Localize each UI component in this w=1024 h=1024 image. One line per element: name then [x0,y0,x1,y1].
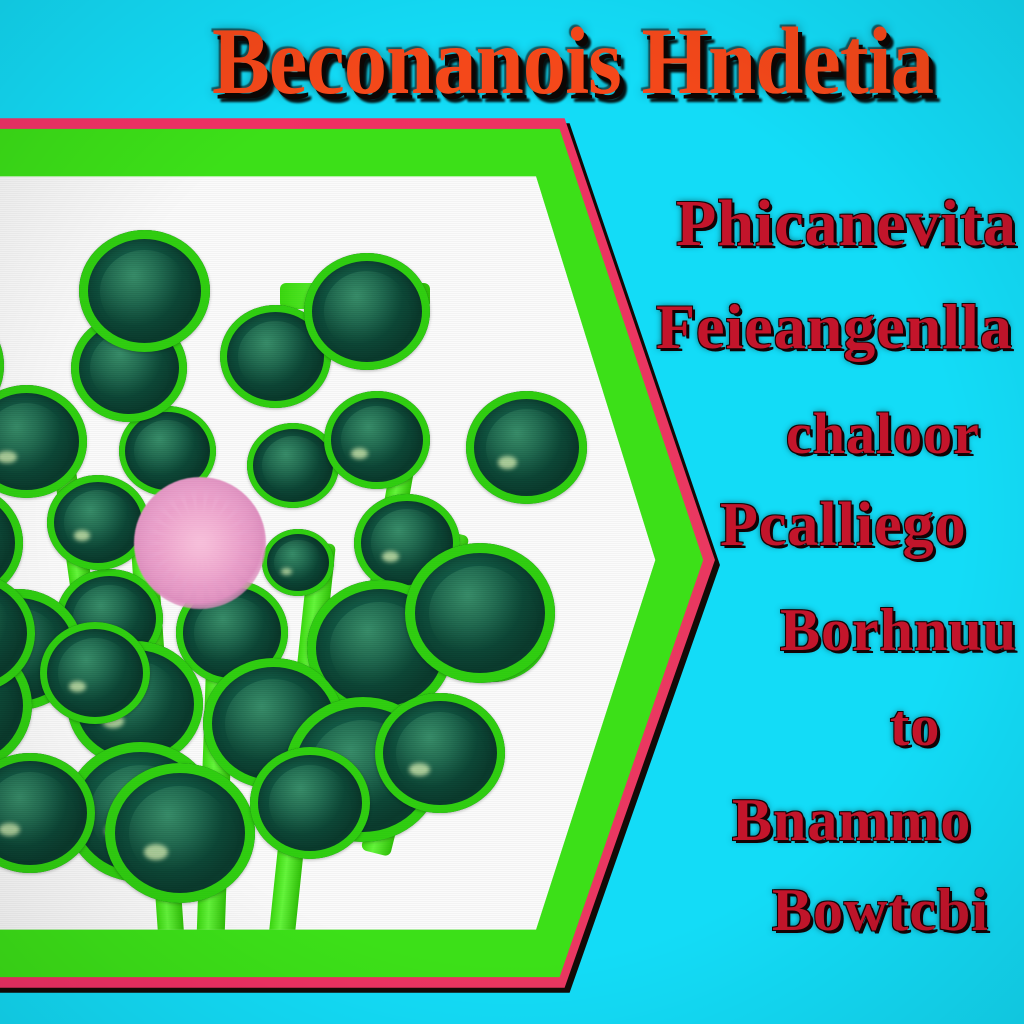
title-bar: Beconanois Hndetia [0,0,1024,120]
vegetable-cap [262,529,334,596]
vegetable-cap [105,763,255,903]
vegetable-cap [79,230,210,352]
flower-center-icon [134,477,266,609]
body-line-4: Pcalliego [720,490,967,561]
body-line-2: Feieangenlla [656,290,1013,364]
vegetable-cap [47,475,149,570]
body-line-1: Phicanevita [676,186,1017,262]
body-line-5: Borhnuu [780,596,1017,665]
vegetable-cap [405,543,555,683]
body-text-block: Phicanevita Feieangenlla chaloor Pcallie… [628,178,1024,978]
vegetable-cap [324,391,430,490]
body-line-7: Bnammo [732,786,971,855]
body-line-3: chaloor [786,400,980,467]
vegetable-cap [304,253,430,370]
page-title: Beconanois Hndetia [212,8,933,116]
body-line-6: to [890,692,940,759]
vegetable-cap [250,747,370,859]
vegetable-cap [40,622,150,724]
body-line-8: Bowtcbi [772,876,989,945]
poster-canvas: Beconanois Hndetia Phicanevita Feieangen… [0,0,1024,1024]
vegetable-cap [466,391,587,504]
vegetable-cap [375,693,505,814]
